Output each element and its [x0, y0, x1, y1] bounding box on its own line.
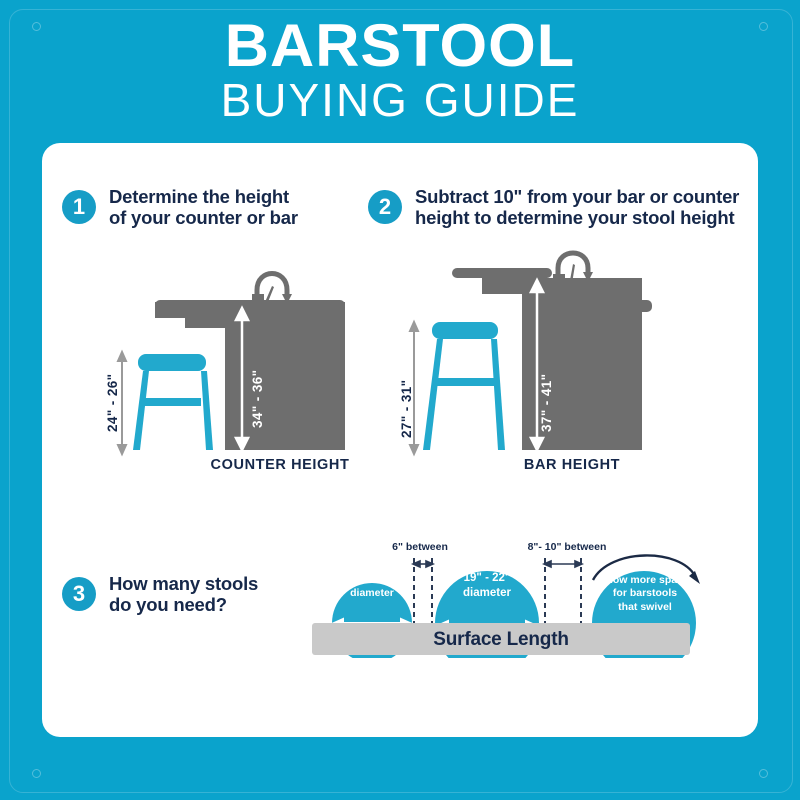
faucet-base-icon [252, 294, 264, 306]
gap-label-1: 6" between [380, 541, 460, 553]
header: BARSTOOL BUYING GUIDE [0, 14, 800, 124]
gap-1-arrow [413, 561, 433, 567]
rivet-bottom-right-icon [759, 769, 768, 778]
faucet-base-icon [553, 274, 565, 302]
faucet-handle-icon [265, 286, 274, 302]
rivet-bottom-left-icon [32, 769, 41, 778]
stool-shape [423, 322, 505, 450]
step-2-text: Subtract 10" from your bar or counter he… [415, 186, 739, 228]
step-2-heading: 2 Subtract 10" from your bar or counter … [368, 186, 739, 228]
step-3-heading: 3 How many stools do you need? [62, 573, 258, 615]
swivel-note-line-3: for barstools [597, 587, 693, 601]
stool-circle-2-label: 19" - 22" diameter [443, 571, 531, 601]
gap-2-arrow [544, 561, 582, 567]
counter-stool-height-label: 24" - 26" [105, 374, 120, 432]
stool-circle-1-diameter: 16" - 18" [336, 572, 408, 586]
step-3-text: How many stools do you need? [109, 573, 258, 615]
step-1-line-2: of your counter or bar [109, 207, 298, 228]
stool-circle-2-diameter: 19" - 22" [443, 571, 531, 586]
swivel-note-line-1: Be sure to [597, 560, 693, 574]
stool-circle-1-label: 16" - 18" diameter [336, 572, 408, 600]
swivel-note-line-4: that swivel [597, 601, 693, 615]
bar-surface-height-label: 37" - 41" [539, 374, 554, 432]
step-2-line-1: Subtract 10" from your bar or counter [415, 186, 739, 207]
bar-height-caption: BAR HEIGHT [472, 457, 672, 473]
gap-label-2: 8"- 10" between [512, 541, 622, 553]
step-3-line-2: do you need? [109, 594, 258, 615]
stool-circle-1-unit: diameter [336, 586, 408, 600]
step-3-badge: 3 [62, 577, 96, 611]
step-1-line-1: Determine the height [109, 186, 298, 207]
bar-stool-height-label: 27" - 31" [399, 380, 414, 438]
counter-height-diagram [100, 250, 390, 482]
surface-length-label: Surface Length [312, 629, 690, 651]
counter-height-caption: COUNTER HEIGHT [180, 457, 380, 473]
step-3-line-1: How many stools [109, 573, 258, 594]
stool-circle-2-unit: diameter [443, 586, 531, 601]
swivel-note-line-2: allow more space [597, 574, 693, 588]
bar-height-diagram [392, 250, 682, 482]
swivel-note-label: Be sure to allow more space for barstool… [597, 560, 693, 614]
step-2-line-2: height to determine your stool height [415, 207, 739, 228]
page-title: BARSTOOL [0, 14, 800, 78]
counter-surface-height-label: 34" - 36" [250, 370, 265, 428]
step-1-heading: 1 Determine the height of your counter o… [62, 186, 298, 228]
step-1-text: Determine the height of your counter or … [109, 186, 298, 228]
step-2-badge: 2 [368, 190, 402, 224]
stool-shape [133, 354, 213, 450]
page-subtitle: BUYING GUIDE [0, 76, 800, 124]
step-1-badge: 1 [62, 190, 96, 224]
